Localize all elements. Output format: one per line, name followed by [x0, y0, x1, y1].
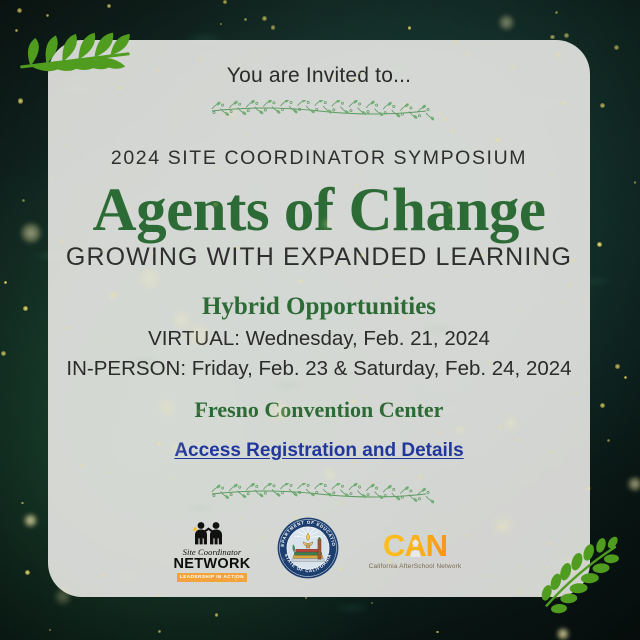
- registration-link[interactable]: Access Registration and Details: [174, 440, 463, 462]
- partner-logos: Site Coordinator NETWORK LEADERSHIP IN A…: [48, 518, 590, 582]
- scn-network-text: NETWORK: [169, 557, 255, 572]
- in-person-date-text: IN-PERSON: Friday, Feb. 23 & Saturday, F…: [48, 357, 590, 381]
- page-subtitle: GROWING WITH EXPANDED LEARNING: [48, 243, 590, 272]
- vine-divider-top-icon: [204, 100, 434, 122]
- logo-california-afterschool-network: CAN California AfterSchool Network: [361, 530, 469, 570]
- hybrid-opportunities-label: Hybrid Opportunities: [48, 293, 590, 321]
- vine-divider-top: [48, 100, 590, 122]
- venue-text: Fresno Convention Center: [48, 397, 590, 423]
- two-people-icon: [186, 518, 238, 548]
- registration-link-container: Access Registration and Details: [48, 440, 590, 462]
- logo-site-coordinator-network: Site Coordinator NETWORK LEADERSHIP IN A…: [169, 518, 255, 582]
- vine-divider-bottom-icon: [204, 483, 434, 505]
- can-tagline: California AfterSchool Network: [361, 563, 469, 570]
- can-wordmark-icon: CAN: [363, 530, 467, 562]
- vine-divider-bottom: [48, 483, 590, 505]
- page-title: Agents of Change: [48, 179, 590, 243]
- invitation-intro-text: You are Invited to...: [48, 64, 590, 88]
- invitation-poster: You are Invited to... 2024 SITE COORDINA…: [0, 0, 640, 640]
- virtual-date-text: VIRTUAL: Wednesday, Feb. 21, 2024: [48, 327, 590, 351]
- invitation-card: You are Invited to... 2024 SITE COORDINA…: [48, 40, 590, 597]
- logo-cde-seal: DEPARTMENT OF EDUCATION STATE OF CALIFOR…: [277, 517, 339, 584]
- scn-tagline-banner: LEADERSHIP IN ACTION: [177, 573, 247, 582]
- cde-seal-icon: DEPARTMENT OF EDUCATION STATE OF CALIFOR…: [277, 517, 339, 579]
- symposium-eyebrow: 2024 SITE COORDINATOR SYMPOSIUM: [48, 147, 590, 170]
